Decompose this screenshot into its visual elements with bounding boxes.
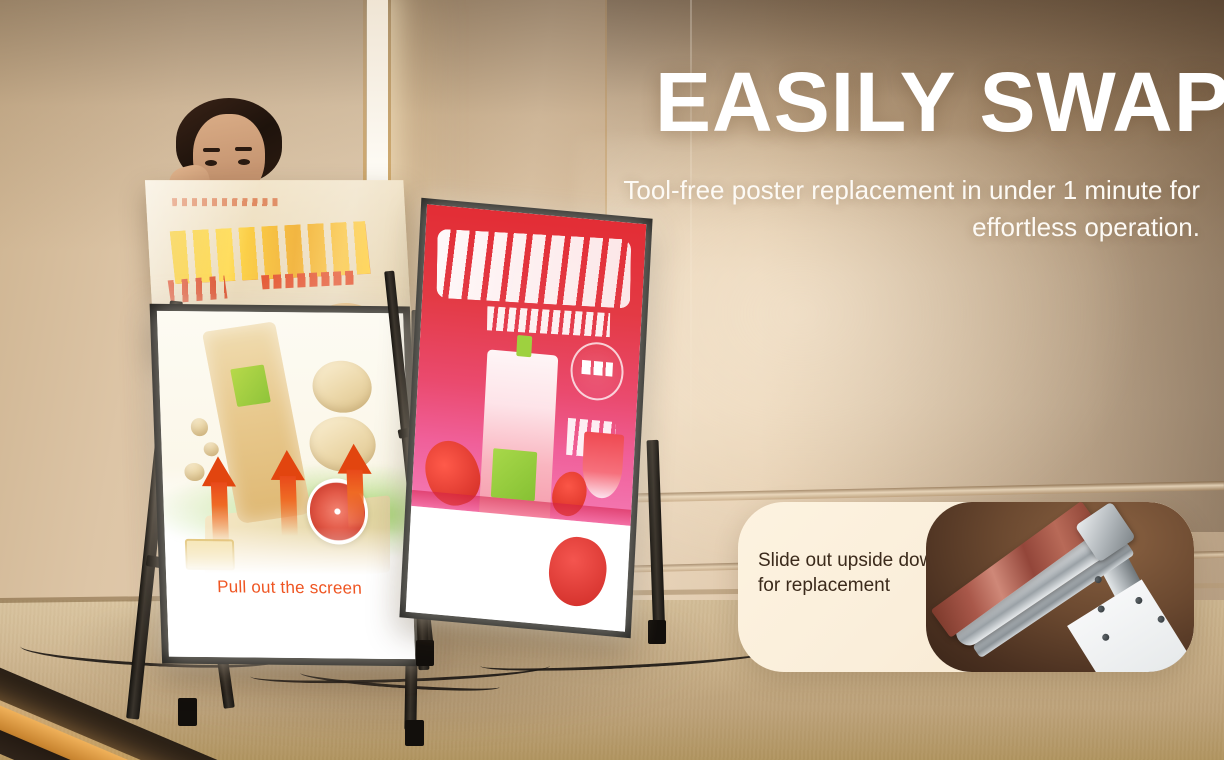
snap-frame-corner-photo <box>926 502 1194 672</box>
light-box-left-screen: Pull out the screen <box>157 311 415 659</box>
frame-poster-window <box>1067 579 1194 672</box>
up-arrow-2 <box>270 450 307 536</box>
eyebrow-right <box>235 147 252 151</box>
stand-right-foot-left <box>416 640 434 666</box>
snap-frame-assembly <box>929 502 1182 672</box>
a-frame-stand-right <box>392 200 692 720</box>
page-title: EASILY SWAP <box>655 60 1200 144</box>
arrow-shaft-3 <box>346 470 364 530</box>
poster-right-cup-label <box>491 448 537 501</box>
light-box-right[interactable] <box>399 198 652 638</box>
poster-left-cup-label <box>230 365 271 408</box>
up-arrow-3 <box>336 444 373 530</box>
eyebrow-left <box>203 148 220 152</box>
pull-out-screen-label: Pull out the screen <box>166 577 413 600</box>
light-box-left[interactable]: Pull out the screen <box>150 304 423 667</box>
page-subtitle: Tool-free poster replacement in under 1 … <box>600 172 1200 246</box>
callout-card: Slide out upside down for replacement <box>738 502 1194 672</box>
product-marketing-banner: Pull out the screen <box>0 0 1224 760</box>
stand-left-foot-front <box>178 698 197 726</box>
arrow-shaft-1 <box>211 483 229 543</box>
stand-right-leg-right <box>647 440 666 640</box>
arrow-shaft-2 <box>280 476 298 536</box>
poster-left-crumb-2 <box>203 443 218 457</box>
stand-right-foot-right <box>648 620 666 644</box>
up-arrow-1 <box>201 456 238 542</box>
a-frame-stand-left: Pull out the screen <box>140 160 430 720</box>
callout-card-text: Slide out upside down for replacement <box>758 548 948 599</box>
poster-left-crumb-1 <box>190 418 208 435</box>
poster-right-cup-lid <box>516 335 532 357</box>
light-box-right-screen <box>406 204 647 631</box>
stand-left-foot-right <box>405 720 424 746</box>
